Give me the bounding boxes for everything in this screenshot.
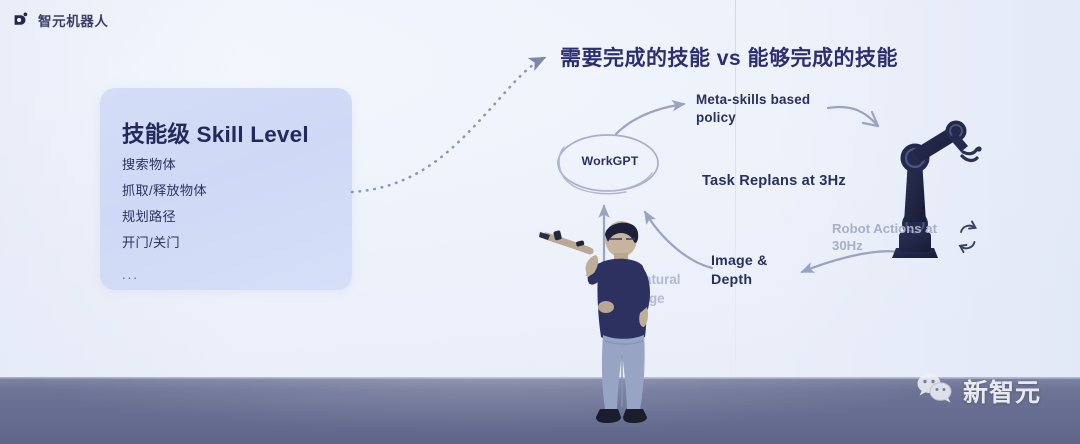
presenter-figure [530,215,676,430]
brand-logo: 智元机器人 [12,10,109,30]
page-title: 需要完成的技能 vs 能够完成的技能 [560,42,898,72]
label-image-depth: Image & Depth [711,252,811,290]
list-item: 搜索物体 [122,152,352,178]
wechat-icon [915,372,955,409]
label-task-replans: Task Replans at 3Hz [702,173,846,189]
watermark: 新智元 [915,372,1041,409]
robot-logo-icon [12,11,31,30]
list-item: 开门/关门 [122,230,352,256]
list-item: 规划路径 [122,204,352,230]
brand-name: 智元机器人 [38,10,109,30]
label-meta-skills: Meta-skills based policy [696,91,826,127]
skill-panel-list: 搜索物体 抓取/释放物体 规划路径 开门/关门 ... [122,152,352,288]
list-item: 抓取/释放物体 [122,178,352,204]
skill-panel-title: 技能级 Skill Level [122,117,382,149]
screenshot-root: 智元机器人 技能级 Skill Level 搜索物体 抓取/释放物体 规划路径 … [0,0,1080,444]
label-robot-actions: Robot Actions at 30Hz [832,220,954,254]
watermark-text: 新智元 [963,373,1041,409]
label-workgpt-node: WorkGPT [577,154,643,168]
list-item-ellipsis: ... [122,256,352,288]
